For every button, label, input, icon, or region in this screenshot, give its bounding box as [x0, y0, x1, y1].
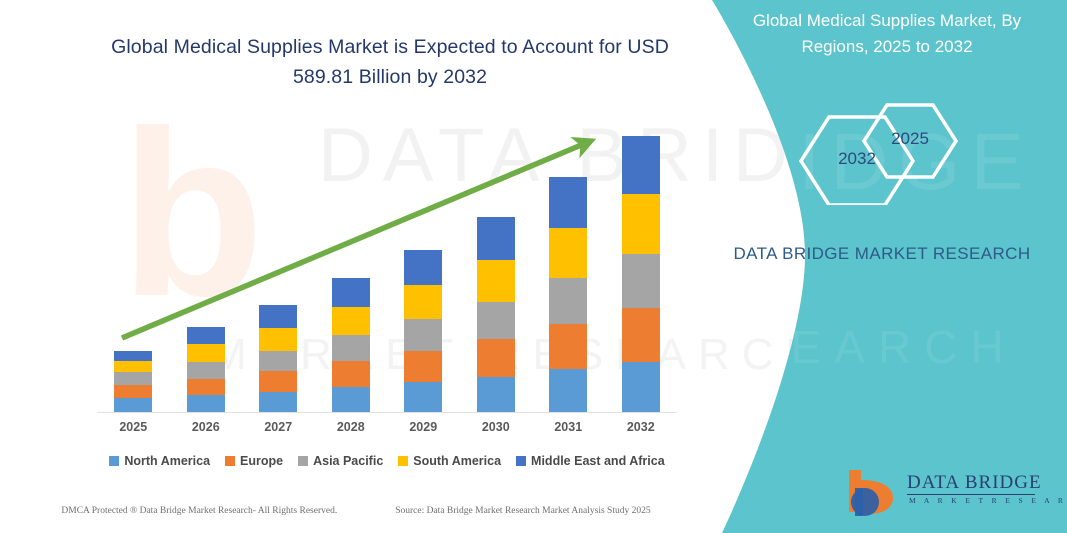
legend-item[interactable]: Asia Pacific: [298, 454, 383, 468]
growth-arrow-icon: [97, 100, 677, 412]
x-axis-label-2032: 2032: [611, 420, 671, 434]
hexagon-group: 2032 2025: [787, 95, 1027, 205]
x-axis-label-2030: 2030: [466, 420, 526, 434]
brand-panel: BRIDGE RESEARCH Global Medical Supplies …: [687, 0, 1067, 533]
footer: DMCA Protected ® Data Bridge Market Rese…: [0, 506, 712, 516]
panel-title: Global Medical Supplies Market, By Regio…: [727, 8, 1047, 60]
legend-swatch-icon: [516, 456, 526, 466]
hexagon-2025-label: 2025: [884, 129, 936, 149]
legend-item[interactable]: Europe: [225, 454, 283, 468]
legend-item[interactable]: South America: [398, 454, 501, 468]
footer-copyright: DMCA Protected ® Data Bridge Market Rese…: [61, 506, 337, 516]
legend-item[interactable]: Middle East and Africa: [516, 454, 665, 468]
legend-swatch-icon: [225, 456, 235, 466]
x-axis-label-2028: 2028: [321, 420, 381, 434]
x-axis-label-2025: 2025: [103, 420, 163, 434]
legend-label: Middle East and Africa: [531, 454, 665, 468]
footer-source: Source: Data Bridge Market Research Mark…: [395, 506, 650, 516]
x-axis-label-2031: 2031: [538, 420, 598, 434]
legend-label: South America: [413, 454, 501, 468]
chart-container: 20252026202720282029203020312032 North A…: [0, 0, 712, 533]
legend-swatch-icon: [398, 456, 408, 466]
legend-swatch-icon: [109, 456, 119, 466]
legend-label: North America: [124, 454, 210, 468]
company-logo: DATA BRIDGE M A R K E T R E S E A R C H: [839, 466, 1049, 518]
chart-legend: North AmericaEuropeAsia PacificSouth Ame…: [97, 454, 677, 468]
bridge-mark-icon: [839, 466, 903, 516]
x-axis-label-2029: 2029: [393, 420, 453, 434]
x-axis-line: [97, 412, 677, 413]
x-axis-labels: 20252026202720282029203020312032: [97, 420, 677, 434]
legend-swatch-icon: [298, 456, 308, 466]
legend-label: Asia Pacific: [313, 454, 383, 468]
logo-subtitle: M A R K E T R E S E A R C H: [909, 496, 1067, 505]
x-axis-label-2027: 2027: [248, 420, 308, 434]
logo-divider: [907, 494, 1035, 495]
hexagon-shapes: [787, 95, 1027, 205]
legend-label: Europe: [240, 454, 283, 468]
brand-name: DATA BRIDGE MARKET RESEARCH: [717, 240, 1047, 268]
logo-title: DATA BRIDGE: [907, 472, 1042, 494]
x-axis-label-2026: 2026: [176, 420, 236, 434]
hexagon-2032-label: 2032: [831, 149, 883, 169]
infographic-root: b DATA BRIDGE MARKET RESEARCH Global Med…: [0, 0, 1067, 533]
legend-item[interactable]: North America: [109, 454, 210, 468]
